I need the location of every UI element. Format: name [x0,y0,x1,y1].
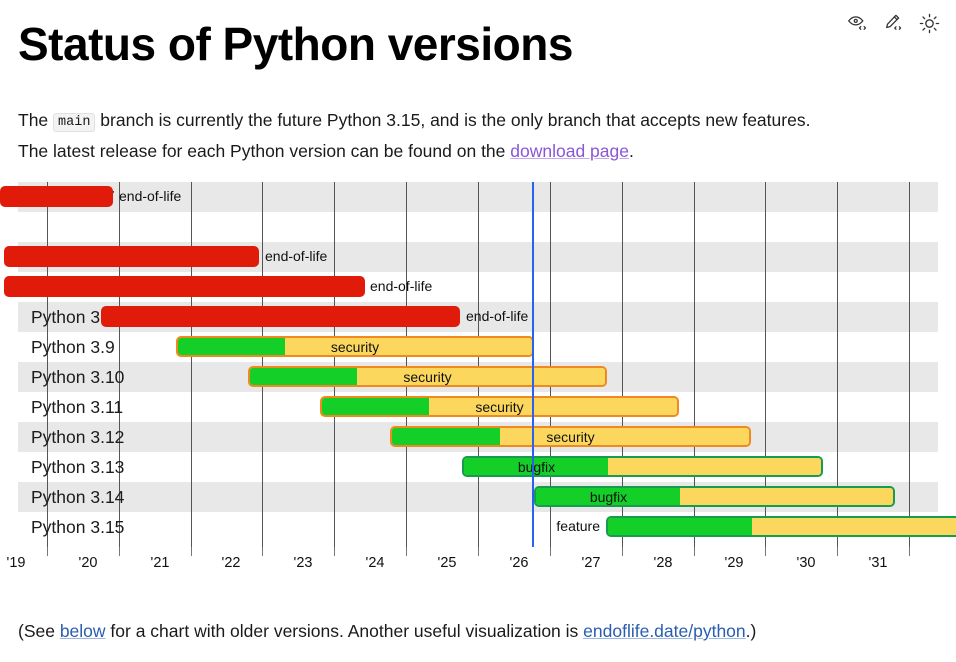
chart-row-label: Python 3.13 [31,452,124,482]
chart-bar[interactable] [0,186,113,207]
intro-line-1-prefix: The [18,110,53,130]
chart-axis-tick [550,547,551,556]
chart-bar-segment-security [752,518,956,535]
chart-axis-tick-label: '22 [222,555,241,571]
chart-bar[interactable]: security [320,396,679,417]
chart-bar[interactable]: security [176,336,534,357]
chart-axis-tick-label: '25 [438,555,457,571]
chart-axis-tick-label: '19 [7,555,26,571]
below-link[interactable]: below [60,621,106,641]
chart-bar[interactable] [4,246,259,267]
chart-bar-segment-security [680,488,893,505]
chart-axis-tick [694,547,695,556]
chart-gridline [334,182,335,547]
chart-bar-status-label: end-of-life [370,276,432,297]
chart-bar[interactable]: bugfix [462,456,823,477]
chart-bar[interactable] [101,306,460,327]
chart-gridline [406,182,407,547]
chart-bar[interactable] [4,276,365,297]
chart-bar-segment-bugfix [464,458,608,475]
chart-axis-tick [47,547,48,556]
chart-axis-tick-label: '23 [294,555,313,571]
chart-axis-tick [478,547,479,556]
today-marker-line [532,182,534,547]
theme-toggle-icon[interactable] [918,12,940,34]
intro-line-2-prefix: The latest release for each Python versi… [18,141,510,161]
chart-row-label: Python 3.11 [31,392,123,422]
chart-bar-segment-bugfix [250,368,357,385]
page-action-icon-bar [846,12,940,34]
chart-row-label: Python 3.15 [31,512,124,542]
main-branch-code: main [53,113,95,132]
chart-row-label: Python 3.14 [31,482,124,512]
chart-axis-tick [119,547,120,556]
chart-axis-tick [765,547,766,556]
chart-row-label: Python 3.9 [31,332,115,362]
intro-line-2: The latest release for each Python versi… [18,137,938,165]
intro-line-1-suffix: branch is currently the future Python 3.… [95,110,810,130]
intro-line-1: The main branch is currently the future … [18,106,938,137]
edit-source-icon[interactable] [882,12,904,34]
chart-row-label: Python 3.10 [31,362,124,392]
endoflife-date-link[interactable]: endoflife.date/python [583,621,746,641]
chart-bar-segment-security [608,458,821,475]
chart-bar-segment-security [357,368,606,385]
chart-bar-segment-security [285,338,532,355]
chart-axis-tick [837,547,838,556]
chart-bar-segment-bugfix [608,518,752,535]
chart-gridline [909,182,910,547]
chart-gridline [191,182,192,547]
chart-axis-tick-label: '20 [79,555,98,571]
chart-axis-tick [262,547,263,556]
chart-axis-tick [406,547,407,556]
chart-axis-tick-label: '29 [725,555,744,571]
chart-axis-tick [334,547,335,556]
footnote-middle: for a chart with older versions. Another… [106,621,584,641]
chart-bar[interactable]: security [390,426,751,447]
chart-axis-tick [622,547,623,556]
python-versions-gantt-chart: Python 2.7end-of-lifePython 3.6end-of-li… [18,182,938,577]
chart-axis-tick-label: '24 [366,555,385,571]
chart-axis-tick-label: '27 [582,555,601,571]
chart-axis-tick [909,547,910,556]
chart-axis-tick [191,547,192,556]
chart-bar-status-label: end-of-life [466,306,528,327]
chart-bar[interactable] [606,516,956,537]
chart-axis-tick-label: '30 [797,555,816,571]
chart-gridline [478,182,479,547]
download-page-link[interactable]: download page [510,141,629,161]
chart-bar-segment-bugfix [536,488,680,505]
chart-bar-segment-bugfix [392,428,500,445]
chart-bar-segment-bugfix [178,338,285,355]
chart-gridline [262,182,263,547]
chart-axis-tick-label: '21 [151,555,170,571]
footnote-prefix: (See [18,621,60,641]
intro-line-2-suffix: . [629,141,634,161]
chart-axis-tick-label: '28 [654,555,673,571]
chart-bar-segment-security [500,428,749,445]
chart-row-label: Python 3.12 [31,422,124,452]
chart-bar-status-label: end-of-life [119,186,181,207]
chart-bar-segment-bugfix [322,398,429,415]
chart-axis-tick-label: '31 [869,555,888,571]
chart-plot-area: Python 2.7end-of-lifePython 3.6end-of-li… [18,182,938,547]
chart-bar-status-label: end-of-life [265,246,327,267]
chart-bar-status-label: feature [500,516,600,537]
page-title: Status of Python versions [18,20,573,68]
view-source-icon[interactable] [846,12,868,34]
intro-paragraph: The main branch is currently the future … [18,106,938,165]
footnote-suffix: .) [746,621,757,641]
chart-x-axis: '19'20'21'22'23'24'25'26'27'28'29'30'31 [18,547,938,577]
chart-bar[interactable]: security [248,366,607,387]
footnote-paragraph: (See below for a chart with older versio… [18,618,938,644]
chart-bar-segment-security [429,398,678,415]
chart-axis-tick-label: '26 [510,555,529,571]
chart-bar[interactable]: bugfix [534,486,895,507]
